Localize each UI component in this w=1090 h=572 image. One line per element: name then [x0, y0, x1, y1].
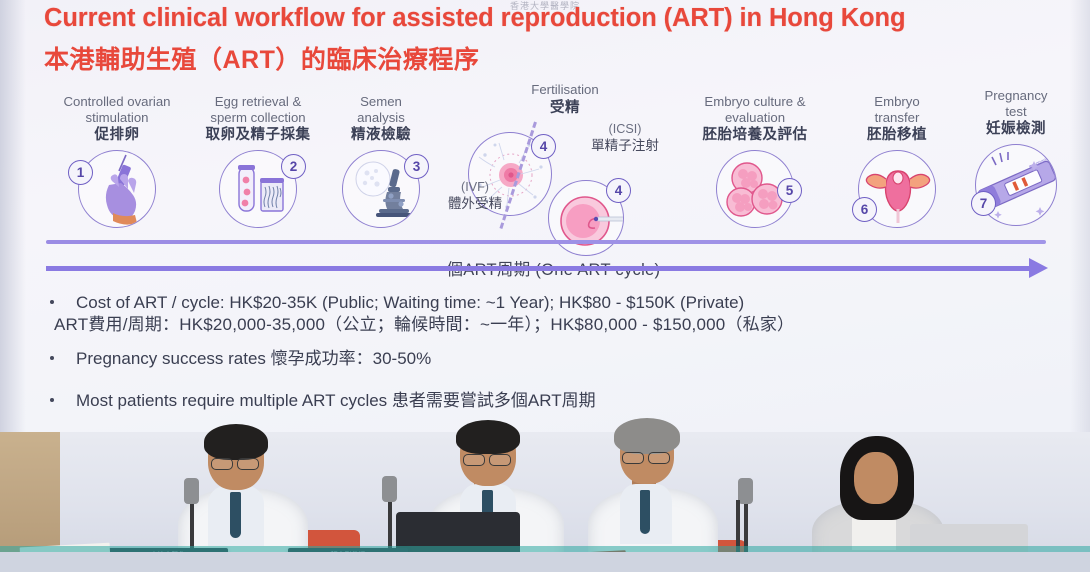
- step-7-caption-en: Pregnancy test: [956, 88, 1076, 119]
- step-6-caption-zh: 胚胎移植: [842, 126, 952, 144]
- step-4-ivf-number: 4: [531, 134, 556, 159]
- bullet-cost: Cost of ART / cycle: HK$20-35K (Public; …: [40, 292, 1050, 336]
- step-4-icsi-number: 4: [606, 178, 631, 203]
- step-2-caption-zh: 取卵及精子採集: [178, 126, 338, 144]
- timeline-rule: [46, 240, 1046, 244]
- step-3-caption-en: Semen analysis: [322, 94, 440, 125]
- step-5-caption-en: Embryo culture & evaluation: [672, 94, 838, 125]
- step-7-number: 7: [971, 191, 996, 216]
- bullet-cost-en: Cost of ART / cycle: HK$20-35K (Public; …: [76, 292, 1050, 314]
- step-5-number: 5: [777, 178, 802, 203]
- step-3-number: 3: [404, 154, 429, 179]
- bullet-marker: [50, 398, 54, 402]
- step-4-caption-zh: 受精: [490, 99, 640, 117]
- projected-slide: 香港大學醫學院 Current clinical workflow for as…: [0, 0, 1090, 460]
- step-1-caption-en: Controlled ovarian stimulation: [34, 94, 200, 125]
- step-1-caption-zh: 促排卵: [34, 126, 200, 144]
- bullet-success-rate-text: Pregnancy success rates 懷孕成功率：30-50%: [76, 348, 1050, 370]
- step-1-number: 1: [68, 160, 93, 185]
- table-front: [0, 552, 1090, 572]
- step-3-caption-zh: 精液檢驗: [322, 126, 440, 144]
- bullet-marker: [50, 300, 54, 304]
- bullet-multiple-cycles: Most patients require multiple ART cycle…: [40, 390, 1050, 412]
- table-runner: [0, 546, 1090, 556]
- test-tubes-icon: 2: [219, 150, 297, 228]
- bullet-cost-zh: ART費用/周期：HK$20,000-35,000（公立；輪候時間：~一年）；H…: [54, 314, 1050, 336]
- step-2-number: 2: [281, 154, 306, 179]
- step-5-caption-zh: 胚胎培養及評估: [672, 126, 838, 144]
- icsi-label-zh: 單精子注射: [560, 137, 690, 154]
- step-4-caption-en: Fertilisation: [490, 82, 640, 98]
- icsi-label-en: (ICSI): [560, 122, 690, 137]
- workflow-step-2: Egg retrieval & sperm collection 取卵及精子採集: [178, 94, 338, 228]
- workflow-step-5: Embryo culture & evaluation 胚胎培養及評估: [672, 94, 838, 228]
- workflow-step-1: Controlled ovarian stimulation 促排卵 1: [34, 94, 200, 228]
- syringe-gloved-hand-icon: 1: [78, 150, 156, 228]
- step-6-number: 6: [852, 197, 877, 222]
- microscope-icon: 3: [342, 150, 420, 228]
- step-7-caption-zh: 妊娠檢測: [956, 120, 1076, 138]
- slide-title-chinese: 本港輔助生殖（ART）的臨床治療程序: [44, 40, 479, 76]
- nameplate-2-zh: 顏志剛教授: [288, 551, 408, 560]
- bullet-multiple-cycles-text: Most patients require multiple ART cycle…: [76, 390, 1050, 412]
- icsi-injection-icon: 4: [548, 180, 624, 256]
- pregnancy-test-strip-icon: pregnant 7: [975, 144, 1057, 226]
- workflow-step-7: Pregnancy test 妊娠檢測 pregnant: [956, 88, 1076, 226]
- ivf-label-zh: 體外受精: [420, 195, 530, 212]
- bullet-success-rate: Pregnancy success rates 懷孕成功率：30-50%: [40, 348, 1050, 370]
- nameplate-panelist-1: 李沛良醫生 Dr Raymond Li Hang Wun: [108, 548, 228, 572]
- step-6-caption-en: Embryo transfer: [842, 94, 952, 125]
- nameplate-panelist-2: 顏志剛教授 Professor Ngan Chi Kong: [288, 548, 408, 572]
- bullet-list: Cost of ART / cycle: HK$20-35K (Public; …: [40, 292, 1050, 421]
- step-2-caption-en: Egg retrieval & sperm collection: [178, 94, 338, 125]
- uterus-icon: 6: [858, 150, 936, 228]
- nameplate-1-zh: 李沛良醫生: [108, 551, 228, 560]
- nameplate-2-en: Professor Ngan Chi Kong: [288, 560, 408, 566]
- embryo-cells-icon: 5: [716, 150, 794, 228]
- cycle-arrow: [46, 266, 1031, 271]
- nameplate-1-en: Dr Raymond Li Hang Wun: [108, 560, 228, 566]
- bullet-marker: [50, 356, 54, 360]
- workflow-step-6: Embryo transfer 胚胎移植 6: [842, 94, 952, 228]
- workflow-step-4-fertilisation: Fertilisation 受精: [490, 82, 640, 117]
- slide-title-english: Current clinical workflow for assisted r…: [44, 4, 1074, 33]
- icsi-sublabel: (ICSI) 單精子注射: [560, 122, 690, 154]
